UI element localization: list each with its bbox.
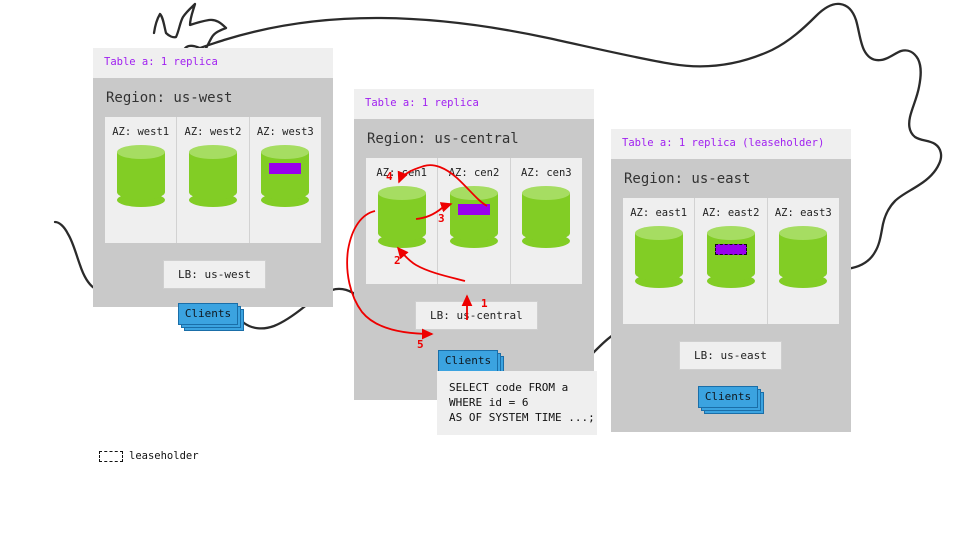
flow-step-number-3: 3 [438,212,445,225]
cylinder-cen1 [378,186,426,248]
az-label-east3: AZ: east3 [768,207,839,219]
region-panel-us-west: Table a: 1 replica Region: us-west AZ: w… [93,48,333,307]
az-label-west1: AZ: west1 [105,126,176,138]
cylinder-cen2 [450,186,498,248]
dashed-rect-icon [99,451,123,462]
az-east3[interactable]: AZ: east3 [768,198,839,324]
load-balancer-us-west[interactable]: LB: us-west [163,260,266,289]
cylinder-west1 [117,145,165,207]
az-west3[interactable]: AZ: west3 [250,117,321,243]
region-panel-us-east: Table a: 1 replica (leaseholder) Region:… [611,129,851,432]
cylinder-east2 [707,226,755,288]
replica-marker-west3 [269,163,301,174]
az-label-east2: AZ: east2 [695,207,766,219]
load-balancer-us-east[interactable]: LB: us-east [679,341,782,370]
az-row-us-west: AZ: west1 AZ: west2 AZ: west3 [105,117,321,243]
az-cen2[interactable]: AZ: cen2 [438,158,510,284]
az-cen1[interactable]: AZ: cen1 [366,158,438,284]
leaseholder-replica-marker-east2 [715,244,747,255]
cylinder-cen3 [522,186,570,248]
sql-query-box: SELECT code FROM a WHERE id = 6 AS OF SY… [437,371,597,435]
az-label-cen1: AZ: cen1 [366,167,437,179]
az-label-east1: AZ: east1 [623,207,694,219]
az-east2[interactable]: AZ: east2 [695,198,767,324]
flow-step-number-2: 2 [394,254,401,267]
az-label-west2: AZ: west2 [177,126,248,138]
clients-us-west[interactable]: Clients [178,303,240,327]
region-title-us-central: Region: us-central [354,119,594,158]
clients-label-us-west: Clients [178,303,238,325]
replica-marker-cen2 [458,204,490,215]
clients-us-central[interactable]: Clients [438,350,500,374]
region-title-us-west: Region: us-west [93,78,333,117]
cylinder-west3 [261,145,309,207]
region-header-us-west: Table a: 1 replica [93,48,333,78]
clients-label-us-central: Clients [438,350,498,372]
az-cen3[interactable]: AZ: cen3 [511,158,582,284]
az-west2[interactable]: AZ: west2 [177,117,249,243]
az-label-cen3: AZ: cen3 [511,167,582,179]
az-label-west3: AZ: west3 [250,126,321,138]
legend: leaseholder [99,450,199,462]
flow-step-number-4: 4 [386,170,393,183]
az-east1[interactable]: AZ: east1 [623,198,695,324]
clients-us-east[interactable]: Clients [698,386,760,410]
flow-step-number-5: 5 [417,338,424,351]
az-label-cen2: AZ: cen2 [438,167,509,179]
region-header-us-east: Table a: 1 replica (leaseholder) [611,129,851,159]
clients-label-us-east: Clients [698,386,758,408]
cylinder-east3 [779,226,827,288]
region-header-us-central: Table a: 1 replica [354,89,594,119]
region-panel-us-central: Table a: 1 replica Region: us-central AZ… [354,89,594,400]
legend-label-leaseholder: leaseholder [129,450,199,462]
cylinder-east1 [635,226,683,288]
flow-step-number-1: 1 [481,297,488,310]
load-balancer-us-central[interactable]: LB: us-central [415,301,538,330]
region-title-us-east: Region: us-east [611,159,851,198]
diagram-canvas: Table a: 1 replica Region: us-west AZ: w… [0,0,960,540]
az-row-us-east: AZ: east1 AZ: east2 AZ: east3 [623,198,839,324]
az-west1[interactable]: AZ: west1 [105,117,177,243]
cylinder-west2 [189,145,237,207]
